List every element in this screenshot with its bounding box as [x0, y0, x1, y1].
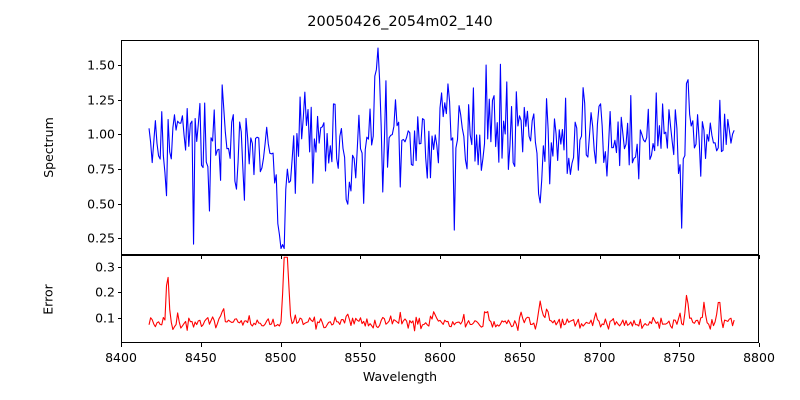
- error-polyline: [149, 257, 734, 331]
- x-tick-label: 8700: [565, 350, 635, 365]
- spectrum-y-tick-label: 0.25: [75, 231, 115, 246]
- x-tick-mark-upper: [520, 255, 521, 259]
- x-tick-label: 8750: [644, 350, 714, 365]
- spectrum-series-line: [122, 41, 758, 254]
- x-tick-label: 8400: [86, 350, 156, 365]
- x-tick-label: 8500: [246, 350, 316, 365]
- error-plot-panel: [121, 255, 759, 343]
- x-tick-mark-upper: [759, 255, 760, 259]
- x-tick-mark: [600, 343, 601, 347]
- spectrum-y-tick-label: 1.00: [75, 127, 115, 142]
- spectrum-y-tick-mark: [118, 169, 122, 170]
- x-tick-mark-upper: [281, 255, 282, 259]
- chart-title: 20050426_2054m02_140: [0, 14, 800, 30]
- error-y-tick-mark: [118, 292, 122, 293]
- x-tick-mark-upper: [440, 255, 441, 259]
- x-tick-label: 8550: [325, 350, 395, 365]
- x-tick-mark: [759, 343, 760, 347]
- x-tick-mark-upper: [679, 255, 680, 259]
- x-axis-label: Wavelength: [0, 369, 800, 384]
- spectrum-y-tick-label: 1.50: [75, 58, 115, 73]
- x-tick-mark: [281, 343, 282, 347]
- x-tick-mark-upper: [360, 255, 361, 259]
- x-tick-mark: [440, 343, 441, 347]
- error-y-axis-label: Error: [41, 284, 56, 314]
- spectrum-polyline: [149, 48, 734, 249]
- error-y-tick-mark: [118, 267, 122, 268]
- x-tick-mark-upper: [600, 255, 601, 259]
- error-series-line: [122, 256, 758, 342]
- x-tick-mark: [121, 343, 122, 347]
- x-tick-mark: [520, 343, 521, 347]
- spectrum-y-tick-mark: [118, 134, 122, 135]
- error-y-tick-label: 0.1: [79, 310, 115, 325]
- x-tick-mark: [201, 343, 202, 347]
- error-y-tick-label: 0.2: [79, 285, 115, 300]
- spectrum-y-tick-label: 1.25: [75, 92, 115, 107]
- x-tick-label: 8650: [485, 350, 555, 365]
- x-tick-label: 8450: [166, 350, 236, 365]
- spectrum-y-axis-label: Spectrum: [40, 117, 55, 178]
- spectrum-y-tick-label: 0.50: [75, 196, 115, 211]
- matplotlib-figure: 20050426_2054m02_140 Spectrum Error Wave…: [0, 0, 800, 400]
- error-y-tick-mark: [118, 318, 122, 319]
- x-tick-mark-upper: [201, 255, 202, 259]
- error-y-tick-label: 0.3: [79, 259, 115, 274]
- spectrum-y-tick-mark: [118, 238, 122, 239]
- spectrum-y-tick-label: 0.75: [75, 162, 115, 177]
- x-tick-label: 8800: [724, 350, 794, 365]
- spectrum-y-tick-mark: [118, 100, 122, 101]
- x-tick-mark-upper: [121, 255, 122, 259]
- x-tick-label: 8600: [405, 350, 475, 365]
- x-tick-mark: [679, 343, 680, 347]
- spectrum-plot-panel: [121, 40, 759, 255]
- spectrum-y-tick-mark: [118, 204, 122, 205]
- spectrum-y-tick-mark: [118, 65, 122, 66]
- x-tick-mark: [360, 343, 361, 347]
